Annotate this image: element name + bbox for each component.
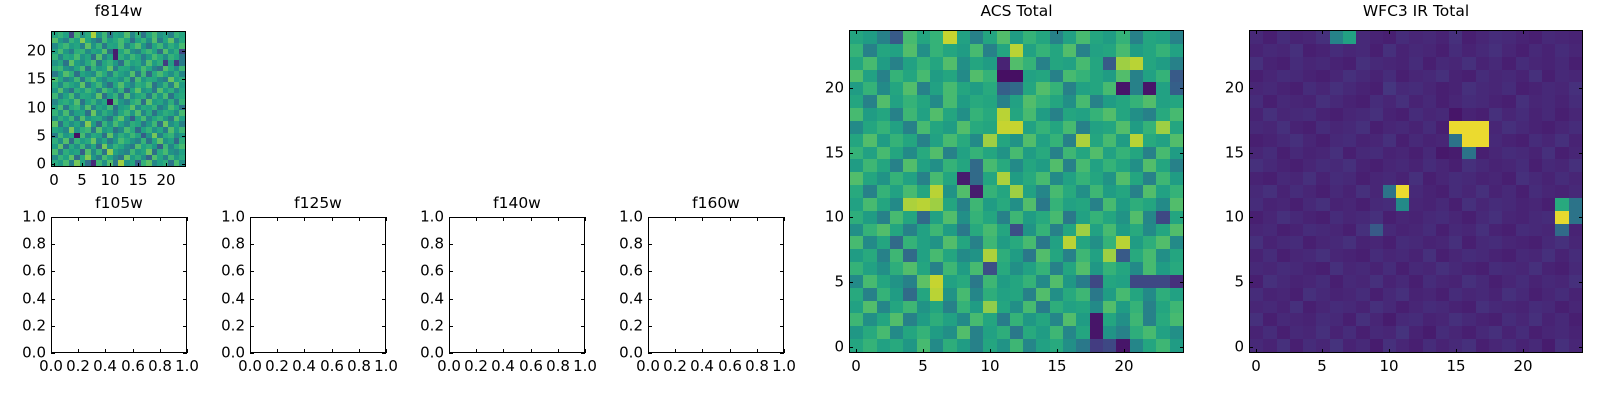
axes-wfc3-ir-total [1249,30,1583,353]
ytick-right-wfc3-ir-total-2 [1579,217,1583,218]
xticklabel-wfc3-ir-total-2: 10 [1379,359,1398,374]
ytick-wfc3-ir-total-3 [1249,153,1253,154]
ytick-right-wfc3-ir-total-3 [1579,153,1583,154]
ytick-right-wfc3-ir-total-0 [1579,347,1583,348]
ytick-right-wfc3-ir-total-4 [1579,88,1583,89]
ytick-wfc3-ir-total-1 [1249,282,1253,283]
heatmap-wfc3-ir-total [1250,31,1582,352]
xtick-wfc3-ir-total-4 [1523,349,1524,353]
xtick-wfc3-ir-total-3 [1456,349,1457,353]
xtick-top-wfc3-ir-total-4 [1523,30,1524,34]
ytick-wfc3-ir-total-0 [1249,347,1253,348]
yticklabel-wfc3-ir-total-2: 10 [1225,210,1244,225]
xticklabel-wfc3-ir-total-0: 0 [1251,359,1261,374]
yticklabel-wfc3-ir-total-4: 20 [1225,81,1244,96]
panel-title-wfc3-ir-total: WFC3 IR Total [1249,4,1583,20]
xticklabel-wfc3-ir-total-3: 15 [1446,359,1465,374]
panel-wfc3-ir-total: WFC3 IR Total0510152005101520 [0,0,1600,400]
xtick-wfc3-ir-total-0 [1256,349,1257,353]
xtick-wfc3-ir-total-1 [1322,349,1323,353]
xticklabel-wfc3-ir-total-1: 5 [1317,359,1327,374]
ytick-wfc3-ir-total-4 [1249,88,1253,89]
xtick-top-wfc3-ir-total-1 [1322,30,1323,34]
xtick-top-wfc3-ir-total-0 [1256,30,1257,34]
yticklabel-wfc3-ir-total-0: 0 [1234,340,1244,355]
ytick-right-wfc3-ir-total-1 [1579,282,1583,283]
ytick-wfc3-ir-total-2 [1249,217,1253,218]
xtick-wfc3-ir-total-2 [1389,349,1390,353]
xtick-top-wfc3-ir-total-3 [1456,30,1457,34]
matplotlib-figure: f814w0510152005101520f105w0.00.20.40.60.… [0,0,1600,400]
xticklabel-wfc3-ir-total-4: 20 [1513,359,1532,374]
xtick-top-wfc3-ir-total-2 [1389,30,1390,34]
yticklabel-wfc3-ir-total-3: 15 [1225,146,1244,161]
yticklabel-wfc3-ir-total-1: 5 [1234,275,1244,290]
